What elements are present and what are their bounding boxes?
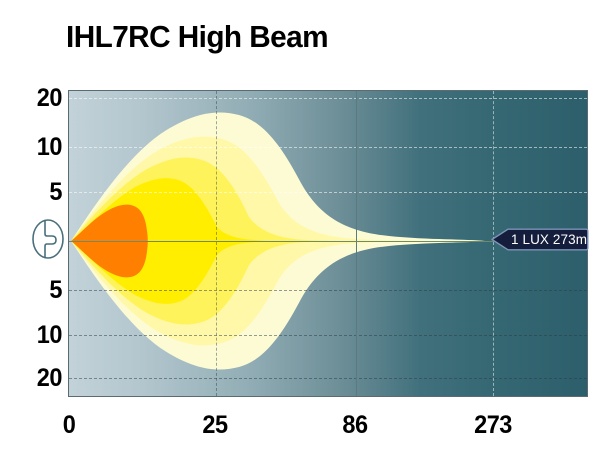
viewer-head-icon xyxy=(31,218,65,265)
y-axis-label-5-top: 5 xyxy=(28,180,62,205)
y-axis-label-10-bottom: 10 xyxy=(28,323,62,348)
y-axis-label-5-bottom: 5 xyxy=(28,278,62,303)
gridline-x-25 xyxy=(216,91,217,396)
gridline-y-20-bottom xyxy=(69,378,587,379)
x-axis-label-25: 25 xyxy=(199,413,231,438)
gridline-y-20-top xyxy=(69,98,587,99)
x-axis-label-0: 0 xyxy=(53,413,85,438)
gridline-y-10-top xyxy=(69,147,587,148)
y-axis-label-10-top: 10 xyxy=(28,135,62,160)
y-axis-label-20-top: 20 xyxy=(28,86,62,111)
beam-pattern-chart: IHL7RC High Beam 20 10 5 5 10 20 xyxy=(0,0,600,459)
x-axis-label-86: 86 xyxy=(339,413,371,438)
page-title: IHL7RC High Beam xyxy=(66,21,328,52)
y-axis-label-20-bottom: 20 xyxy=(28,366,62,391)
gridline-y-5-top xyxy=(69,192,587,193)
gridline-x-86 xyxy=(356,91,357,396)
x-axis-label-273: 273 xyxy=(470,413,517,438)
badge-label: 1 LUX 273m xyxy=(511,228,593,251)
gridline-y-10-bottom xyxy=(69,335,587,336)
gridline-y-5-bottom xyxy=(69,290,587,291)
